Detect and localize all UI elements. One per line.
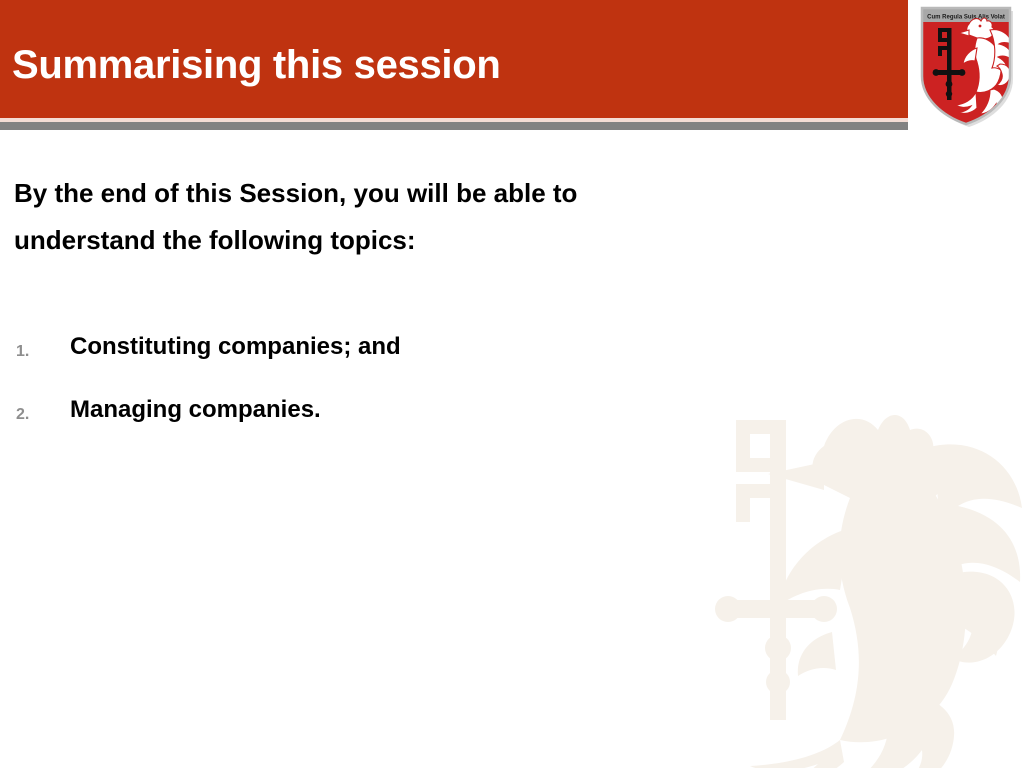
crest-motto: Cum Regula Suis Alis Volat: [927, 15, 1005, 21]
list-item-number: 1.: [16, 343, 60, 361]
lead-paragraph: By the end of this Session, you will be …: [14, 170, 844, 264]
topics-list: 1. Constituting companies; and 2. Managi…: [14, 330, 714, 456]
list-item-label: Managing companies.: [70, 393, 321, 427]
lead-line-2: understand the following topics:: [14, 217, 844, 264]
list-item: 2. Managing companies.: [14, 393, 714, 456]
list-item-number: 2.: [16, 406, 60, 424]
university-crest-icon: Cum Regula Suis Alis Volat: [914, 2, 1018, 128]
slide: Summarising this session Cum Regula Suis…: [0, 0, 1024, 768]
lead-line-1: By the end of this Session, you will be …: [14, 170, 844, 217]
header-rule-divider: [0, 122, 908, 130]
page-title: Summarising this session: [12, 42, 501, 88]
list-item: 1. Constituting companies; and: [14, 330, 714, 393]
list-item-label: Constituting companies; and: [70, 330, 401, 364]
griffin-watermark-icon: [712, 400, 1024, 768]
